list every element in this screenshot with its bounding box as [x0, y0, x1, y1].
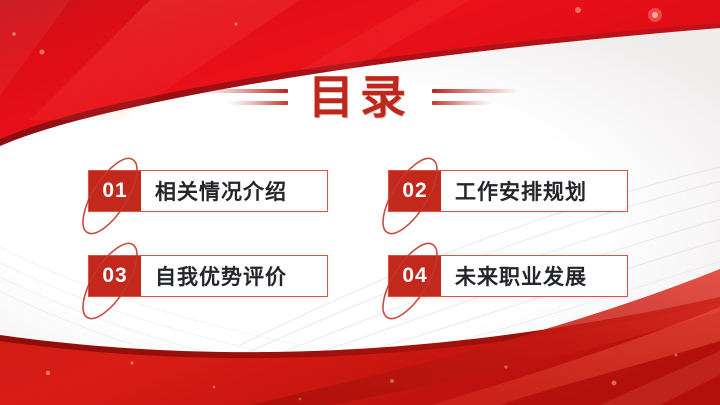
table-of-contents-list: 01 相关情况介绍 02 工作安排规划 03 自我优势评价 04 未来职业发展: [0, 0, 720, 405]
toc-item-number: 04: [389, 256, 441, 296]
toc-item-number: 02: [389, 171, 441, 211]
toc-item-label: 未来职业发展: [441, 256, 627, 296]
toc-item-number: 03: [89, 256, 141, 296]
toc-item-02[interactable]: 02 工作安排规划: [388, 170, 628, 212]
toc-item-label: 相关情况介绍: [141, 171, 327, 211]
toc-item-03[interactable]: 03 自我优势评价: [88, 255, 328, 297]
toc-item-number: 01: [89, 171, 141, 211]
toc-item-label: 工作安排规划: [441, 171, 627, 211]
toc-item-01[interactable]: 01 相关情况介绍: [88, 170, 328, 212]
toc-item-label: 自我优势评价: [141, 256, 327, 296]
toc-item-04[interactable]: 04 未来职业发展: [388, 255, 628, 297]
presentation-slide: 目录 01 相关情况介绍 02 工作安排规划 03 自我优势评价: [0, 0, 720, 405]
